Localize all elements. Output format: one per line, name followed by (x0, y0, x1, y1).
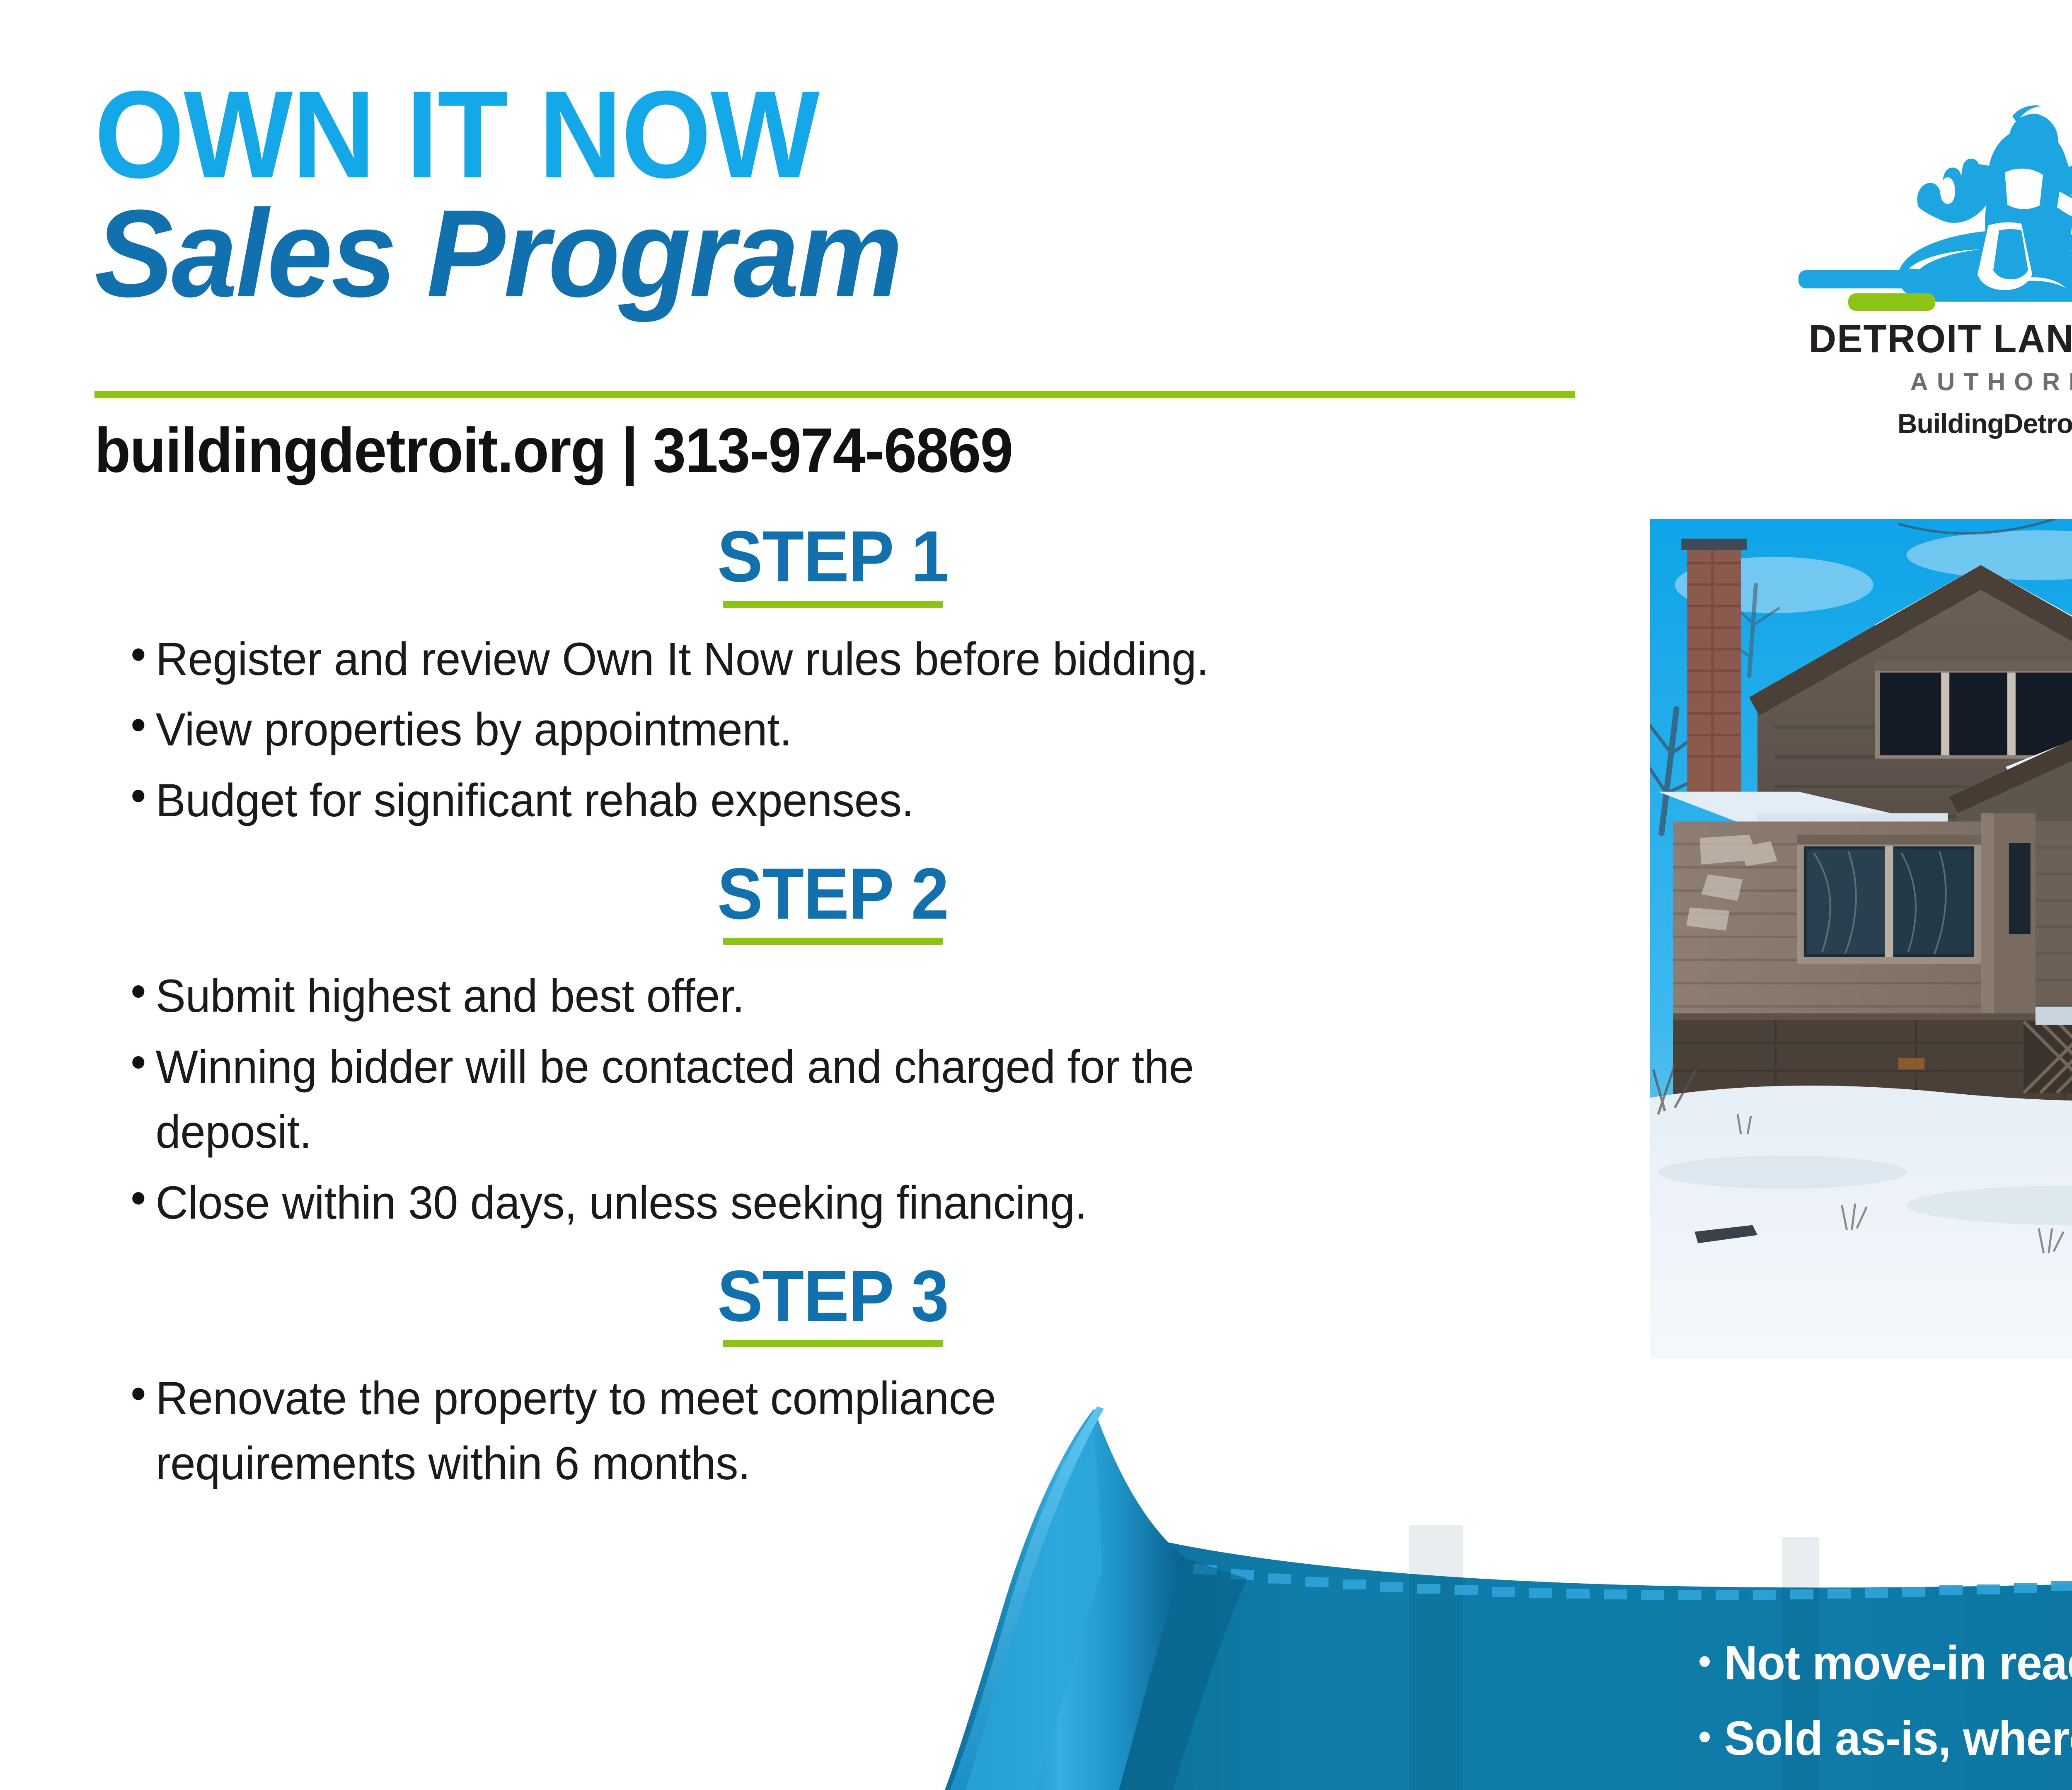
list-item: View properties by appointment. (95, 697, 1526, 762)
page-title-secondary: Sales Program (94, 190, 1512, 317)
step-1-bullet-list: Register and review Own It Now rules bef… (95, 627, 1571, 833)
title-block: OWN IT NOW Sales Program (94, 77, 1586, 317)
steps-section: STEP 1 Register and review Own It Now ru… (95, 520, 1571, 1502)
logo-url[interactable]: BuildingDetroit.org (1794, 408, 2072, 439)
step-3-underline (723, 1340, 943, 1347)
list-item: Close within 30 days, unless seeking fin… (95, 1171, 1526, 1236)
step-2-title: STEP 2 (346, 857, 1320, 931)
list-item: Winning bidder will be contacted and cha… (95, 1035, 1265, 1165)
step-1-underline (723, 601, 943, 608)
logo-org-name: DETROIT LAND BANK (1801, 317, 2072, 362)
step-1: STEP 1 Register and review Own It Now ru… (95, 520, 1571, 833)
step-1-title: STEP 1 (346, 520, 1320, 594)
title-divider-rule (94, 391, 1575, 398)
list-item: Submit highest and best offer. (95, 964, 1526, 1029)
spirit-of-detroit-icon (1794, 83, 2072, 315)
step-2: STEP 2 Submit highest and best offer. Wi… (95, 857, 1571, 1236)
step-1-header: STEP 1 (315, 520, 1351, 608)
list-item: Register and review Own It Now rules bef… (95, 627, 1526, 692)
list-item: Budget for significant rehab expenses. (95, 768, 1526, 833)
step-2-underline (723, 938, 943, 945)
page-title-primary: OWN IT NOW (94, 77, 1482, 192)
banner-bullet-list: Not move-in ready Sold as-is, where-is (1691, 1639, 2072, 1790)
step-3-header: STEP 3 (315, 1260, 1351, 1347)
contact-line[interactable]: buildingdetroit.org | 313-974-6869 (94, 414, 1012, 487)
detroit-land-bank-logo: DETROIT LAND BANK AUTHORITY BuildingDetr… (1794, 83, 2072, 439)
step-2-bullet-list: Submit highest and best offer. Winning b… (95, 964, 1571, 1235)
logo-org-subtitle: AUTHORITY (1794, 368, 2072, 396)
flyer-page: OWN IT NOW Sales Program buildingdetroit… (0, 0, 2072, 1790)
list-item: Not move-in ready (1691, 1639, 2072, 1687)
property-photo (1650, 519, 2072, 1359)
step-2-header: STEP 2 (315, 857, 1351, 945)
step-3-title: STEP 3 (346, 1260, 1320, 1334)
list-item: Sold as-is, where-is (1691, 1714, 2072, 1762)
